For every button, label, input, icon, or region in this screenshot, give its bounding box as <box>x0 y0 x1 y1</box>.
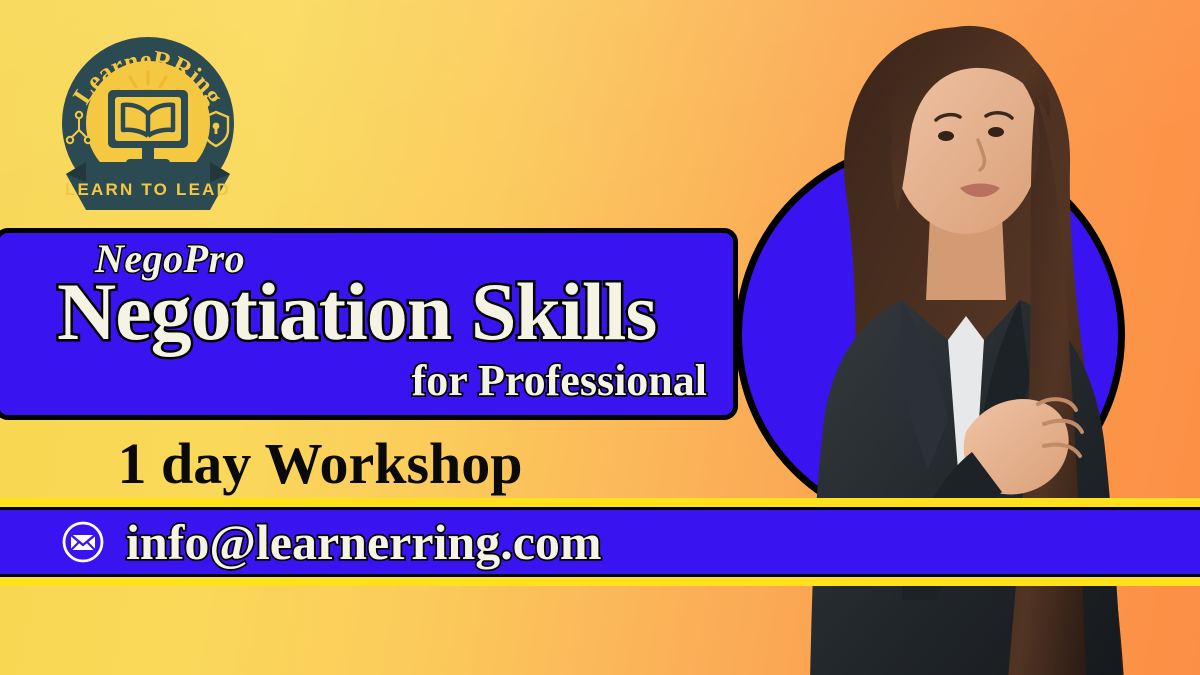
workshop-duration: 1 day Workshop <box>0 428 640 498</box>
envelope-icon <box>62 521 104 563</box>
contact-bar-inner: info@learnerring.com <box>0 507 1200 577</box>
title-block: NegoPro Negotiation Skills for Professio… <box>0 228 738 420</box>
logo-tagline-text: LEARN TO LEAD <box>65 180 231 199</box>
contact-bar-stripe-top <box>0 498 1200 507</box>
brand-logo[interactable]: LearneRRing <box>58 32 238 214</box>
eye-left <box>938 131 954 141</box>
eye-right <box>988 127 1004 137</box>
workshop-label: 1 day Workshop <box>117 430 522 497</box>
subheadline-text: for Professional <box>412 355 707 406</box>
headline-text: Negotiation Skills <box>57 265 656 359</box>
email-address[interactable]: info@learnerring.com <box>126 517 602 567</box>
contact-bar-stripe-bottom <box>0 577 1200 586</box>
contact-bar[interactable]: info@learnerring.com <box>0 498 1200 586</box>
promotional-poster: LearneRRing <box>0 0 1200 675</box>
